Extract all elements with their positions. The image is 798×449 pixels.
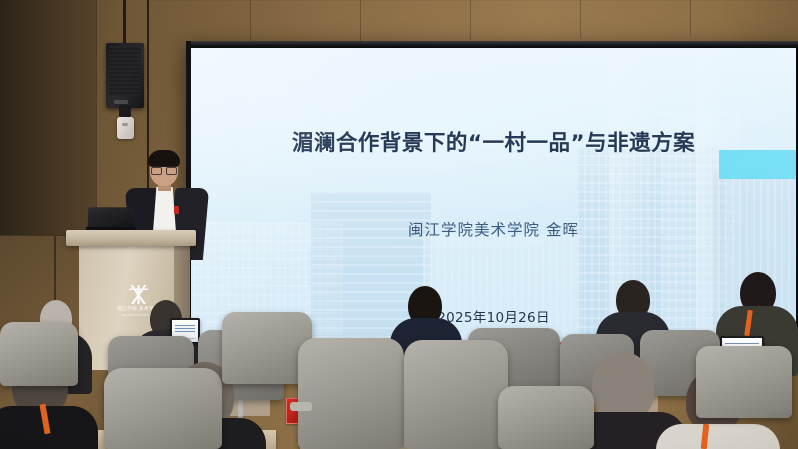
chair — [0, 322, 78, 386]
speaker-mount-pole — [123, 0, 126, 46]
minjiang-university-emblem-icon — [129, 285, 148, 304]
chair — [498, 386, 594, 449]
wall-speaker-icon — [106, 43, 144, 108]
speaker-grill — [109, 46, 141, 96]
glasses-icon — [151, 166, 177, 173]
wall-panel-line — [580, 0, 581, 38]
chair — [104, 368, 222, 449]
chair — [404, 340, 508, 449]
slide-background-photo — [191, 48, 796, 342]
speaker-bracket — [119, 105, 131, 117]
wall-panel-line — [148, 0, 798, 1]
presenter-badge — [174, 206, 179, 214]
laptop-lid — [88, 207, 135, 228]
chair-arm — [290, 402, 312, 411]
wall-panel-line — [360, 0, 361, 42]
chair — [298, 338, 404, 449]
podium-top — [66, 230, 196, 246]
presenter-laptop — [88, 207, 134, 231]
slide-subtitle: 闽江学院美术学院 金晖 — [191, 218, 796, 240]
wall-panel-line — [250, 0, 251, 44]
led-display-screen: 湄澜合作背景下的“一村一品”与非遗方案 闽江学院美术学院 金晖 2025年10月… — [186, 41, 798, 346]
wall-panel-line — [690, 0, 691, 36]
ceiling-sensor-icon — [117, 117, 134, 139]
speaker-brand-logo — [114, 100, 128, 104]
screen-bezel-top — [186, 41, 798, 48]
presentation-room-photo: 湄澜合作背景下的“一村一品”与非遗方案 闽江学院美术学院 金晖 2025年10月… — [0, 0, 798, 449]
slide-surface: 湄澜合作背景下的“一村一品”与非遗方案 闽江学院美术学院 金晖 2025年10月… — [191, 48, 796, 342]
presenter-hair — [148, 150, 180, 167]
slide-title: 湄澜合作背景下的“一村一品”与非遗方案 — [191, 126, 796, 157]
wall-panel-line — [470, 0, 471, 40]
chair — [696, 346, 792, 418]
